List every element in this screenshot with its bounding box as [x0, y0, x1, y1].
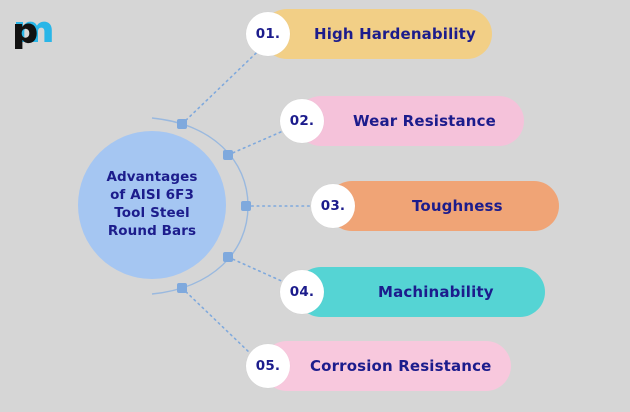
item-badge-3[interactable]: 03. — [311, 184, 355, 228]
connector-node-1 — [177, 119, 187, 129]
connector-node-4 — [223, 252, 233, 262]
item-row-5: Corrosion Resistance 05. — [262, 341, 511, 391]
item-pill-toughness[interactable]: Toughness — [327, 181, 559, 231]
item-badge-2[interactable]: 02. — [280, 99, 324, 143]
infographic-canvas: Advantages of AISI 6F3 Tool Steel Round … — [0, 0, 630, 412]
center-circle: Advantages of AISI 6F3 Tool Steel Round … — [78, 131, 226, 279]
item-label-2: Wear Resistance — [353, 112, 496, 130]
connector-node-3 — [241, 201, 251, 211]
item-badge-4[interactable]: 04. — [280, 270, 324, 314]
connector-node-2 — [223, 150, 233, 160]
item-pill-wear-resistance[interactable]: Wear Resistance — [296, 96, 524, 146]
item-number-4: 04. — [290, 284, 315, 300]
item-pill-machinability[interactable]: Machinability — [296, 267, 545, 317]
item-badge-1[interactable]: 01. — [246, 12, 290, 56]
item-label-5: Corrosion Resistance — [310, 357, 491, 375]
center-title: Advantages of AISI 6F3 Tool Steel Round … — [100, 169, 203, 241]
item-row-2: Wear Resistance 02. — [296, 96, 524, 146]
item-row-3: Toughness 03. — [327, 181, 559, 231]
item-pill-high-hardenability[interactable]: High Hardenability — [262, 9, 492, 59]
item-number-3: 03. — [321, 198, 346, 214]
item-label-1: High Hardenability — [314, 25, 476, 43]
item-row-1: High Hardenability 01. — [262, 9, 492, 59]
pm-logo — [12, 10, 56, 50]
item-number-5: 05. — [256, 358, 281, 374]
item-label-3: Toughness — [412, 197, 503, 215]
item-number-2: 02. — [290, 113, 315, 129]
item-label-4: Machinability — [378, 283, 494, 301]
connector-node-5 — [177, 283, 187, 293]
item-pill-corrosion-resistance[interactable]: Corrosion Resistance — [262, 341, 511, 391]
item-badge-5[interactable]: 05. — [246, 344, 290, 388]
item-row-4: Machinability 04. — [296, 267, 545, 317]
item-number-1: 01. — [256, 26, 281, 42]
pm-logo-icon — [12, 10, 56, 50]
